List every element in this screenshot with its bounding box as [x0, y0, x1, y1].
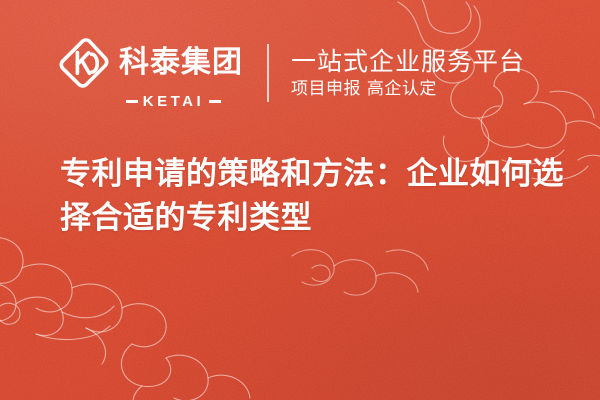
promo-banner: 科泰集团 KETAI 一站式企业服务平台 项目申报 高企认定 专利申请的策略和方… [0, 0, 600, 400]
brand-logo: 科泰集团 KETAI [58, 37, 243, 109]
tagline-primary: 一站式企业服务平台 [291, 49, 525, 74]
brand-logo-row: 科泰集团 [58, 37, 243, 89]
tagline-block: 一站式企业服务平台 项目申报 高企认定 [291, 49, 525, 98]
brand-name-latin-row: KETAI [126, 94, 221, 109]
rule-right-icon [209, 100, 221, 103]
ketai-diamond-k-monogram-icon [58, 37, 110, 89]
brand-name-cn: 科泰集团 [119, 48, 243, 78]
tagline-secondary: 项目申报 高企认定 [291, 81, 525, 98]
banner-headline: 专利申请的策略和方法：企业如何选择合适的专利类型 [60, 152, 570, 240]
rule-left-icon [126, 100, 138, 103]
banner-header: 科泰集团 KETAI 一站式企业服务平台 项目申报 高企认定 [58, 38, 525, 108]
header-divider [267, 44, 269, 102]
brand-name-latin: KETAI [143, 94, 204, 109]
cloud-decoration-bottom-center [290, 234, 440, 304]
